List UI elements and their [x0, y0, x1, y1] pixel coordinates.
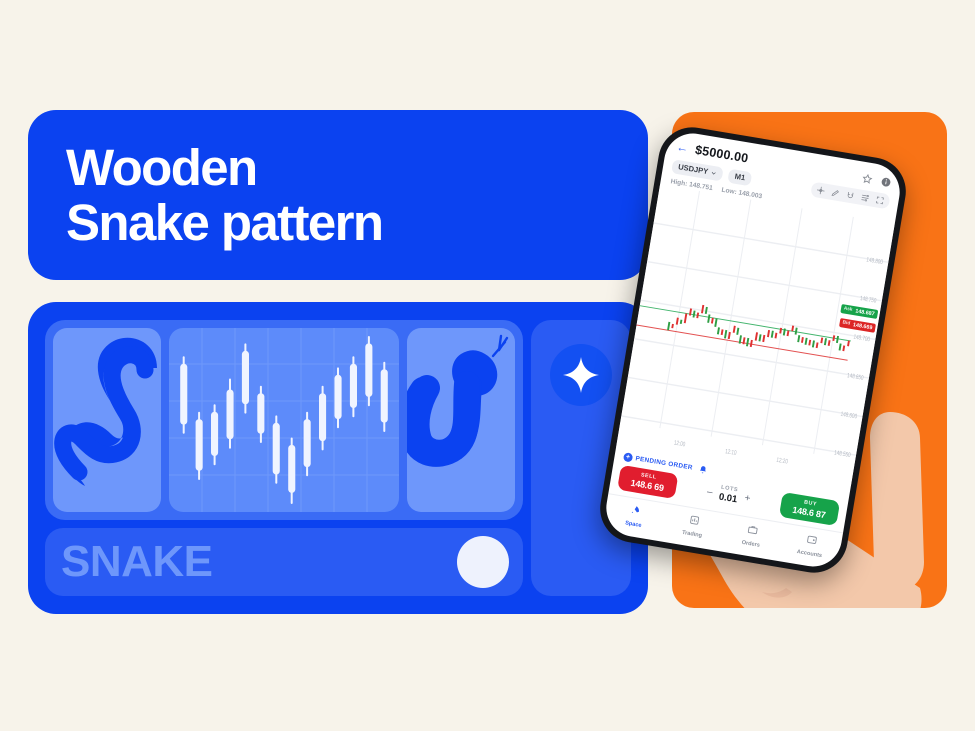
tab-space[interactable]: Space	[603, 498, 666, 533]
snake-tongue-icon	[493, 336, 507, 356]
candlestick-series	[169, 328, 399, 512]
indicators-icon[interactable]	[860, 193, 870, 203]
pencil-icon[interactable]	[830, 188, 840, 198]
page-title-line2: Snake pattern	[66, 195, 610, 250]
ask-value: 148.687	[855, 308, 875, 317]
bell-icon[interactable]	[698, 464, 708, 474]
back-arrow-icon[interactable]: ←	[676, 141, 690, 155]
bid-value: 148.669	[853, 322, 873, 331]
svg-text:148.650: 148.650	[846, 373, 864, 383]
tab-trading[interactable]: Trading	[662, 507, 725, 542]
price-chart[interactable]: 148.800148.750148.700148.650148.600148.5…	[616, 184, 895, 485]
star-icon[interactable]	[861, 172, 874, 185]
lots-decrease-button[interactable]: –	[706, 486, 713, 498]
tab-orders[interactable]: Orders	[721, 517, 784, 552]
bid-label: Bid	[842, 320, 850, 326]
svg-text:148.800: 148.800	[866, 257, 884, 267]
lots-increase-button[interactable]: +	[744, 492, 752, 504]
timeframe-selector[interactable]: M1	[728, 168, 753, 186]
tab-label: Space	[603, 517, 663, 533]
tab-label: Accounts	[779, 546, 839, 562]
briefcase-icon	[747, 523, 760, 536]
chevron-down-icon	[711, 169, 718, 176]
snake-panels-row	[45, 320, 523, 520]
fullscreen-icon[interactable]	[875, 195, 885, 205]
tab-label: Trading	[662, 527, 722, 543]
snake-pattern-card: SNAKE	[28, 302, 648, 614]
chart-canvas: 148.800148.750148.700148.650148.600148.5…	[616, 184, 895, 485]
snake-head-panel	[407, 328, 515, 512]
symbol-pair: USDJPY	[677, 162, 708, 176]
crosshair-icon[interactable]	[816, 185, 826, 195]
page-title-line1: Wooden	[66, 140, 610, 195]
plus-icon: +	[623, 452, 633, 462]
sparkle-badge[interactable]	[550, 344, 612, 406]
svg-text:12:00: 12:00	[673, 440, 685, 449]
lots-value[interactable]: 0.01	[718, 491, 738, 505]
sell-button[interactable]: SELL 148.6 69	[617, 464, 678, 498]
tab-label: Orders	[721, 536, 781, 552]
svg-text:148.700: 148.700	[853, 334, 871, 344]
info-icon[interactable]	[880, 175, 893, 188]
svg-text:12:20: 12:20	[776, 457, 788, 466]
circle-button-icon[interactable]	[457, 536, 509, 588]
snake-label-bar: SNAKE	[45, 528, 523, 596]
ask-label: Ask	[843, 306, 853, 312]
snake-tail-panel	[53, 328, 161, 512]
candlestick-chart-panel	[169, 328, 399, 512]
sparkle-star-icon	[561, 355, 601, 395]
snake-tail-icon	[53, 328, 161, 512]
svg-text:148.600: 148.600	[840, 411, 858, 421]
poster-canvas: Wooden Snake pattern	[0, 0, 975, 731]
svg-text:12:10: 12:10	[724, 449, 736, 458]
snake-label: SNAKE	[61, 537, 213, 587]
svg-text:148.750: 148.750	[859, 295, 877, 305]
buy-button[interactable]: BUY 148.6 87	[779, 491, 840, 525]
lots-display: LOTS 0.01	[718, 485, 739, 506]
svg-text:148.550: 148.550	[834, 450, 852, 460]
magnet-icon[interactable]	[845, 190, 855, 200]
snake-head-icon	[407, 328, 515, 512]
rocket-icon	[629, 504, 642, 517]
tab-accounts[interactable]: Accounts	[779, 527, 842, 562]
chart-icon	[688, 513, 701, 526]
title-card: Wooden Snake pattern	[28, 110, 648, 280]
wallet-icon	[805, 533, 818, 546]
